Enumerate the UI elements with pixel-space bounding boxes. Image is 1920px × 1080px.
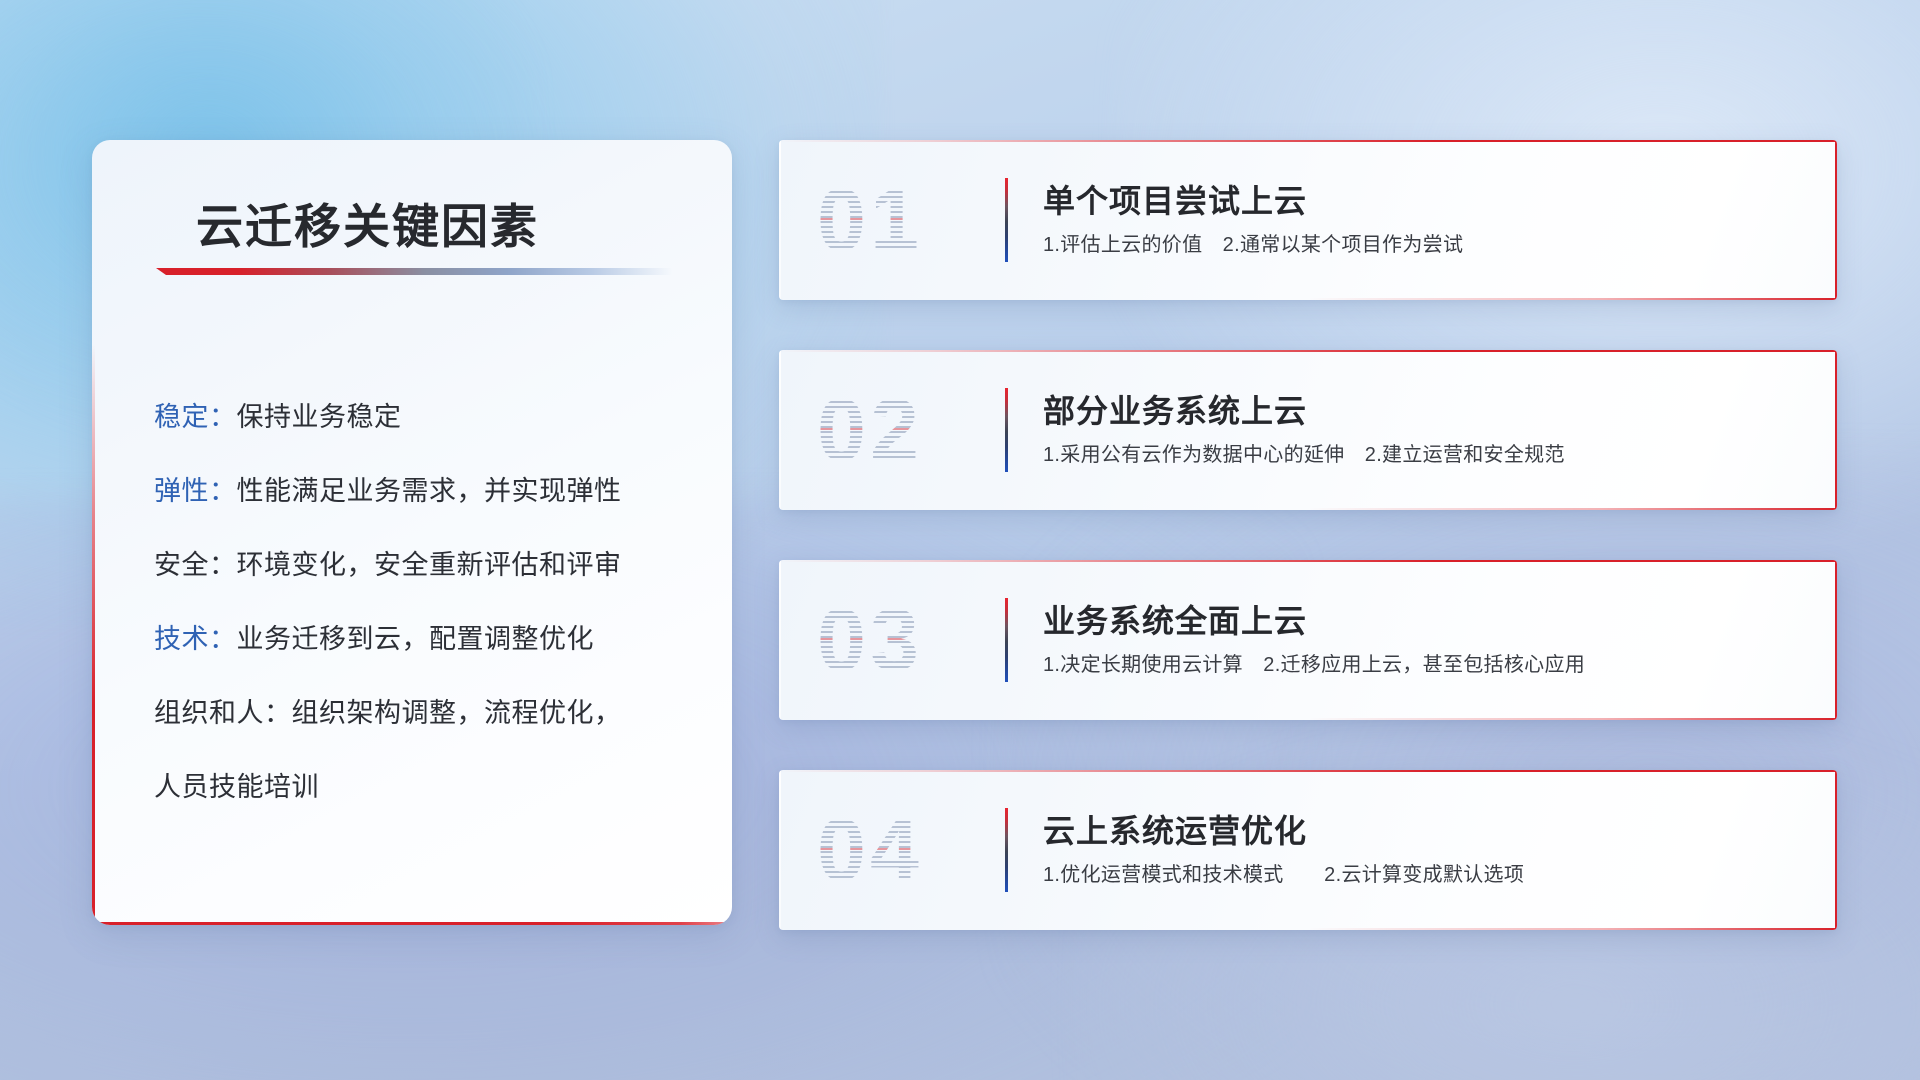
factor-row: 弹性：性能满足业务需求，并实现弹性 [154, 454, 698, 528]
stage-number: 02 [817, 366, 923, 494]
factor-row: 安全：环境变化，安全重新评估和评审 [154, 528, 698, 602]
factor-value: 业务迁移到云，配置调整优化 [237, 624, 595, 654]
factor-row: 人员技能培训 [154, 750, 698, 824]
card-top-accent [779, 770, 1837, 772]
factor-row: 组织和人：组织架构调整，流程优化， [154, 676, 698, 750]
factor-key: 稳定： [154, 402, 237, 432]
key-factors-panel: 云迁移关键因素 稳定：保持业务稳定 弹性：性能满足业务需求，并实现弹性 安全：环… [92, 140, 732, 925]
card-divider-bar [1005, 808, 1008, 892]
card-top-accent [779, 140, 1837, 142]
stage-description: 1.评估上云的价值 2.通常以某个项目作为尝试 [1043, 230, 1463, 260]
panel-title: 云迁移关键因素 [196, 188, 539, 257]
card-divider-bar [1005, 388, 1008, 472]
stage-number: 01 [817, 156, 923, 284]
card-left-edge [779, 770, 781, 930]
card-top-accent [779, 560, 1837, 562]
card-left-edge [779, 350, 781, 510]
stage-description: 1.优化运营模式和技术模式 2.云计算变成默认选项 [1043, 860, 1524, 890]
card-right-accent [1835, 350, 1837, 510]
stage-description: 1.采用公有云作为数据中心的延伸 2.建立运营和安全规范 [1043, 440, 1565, 470]
factor-value: 人员技能培训 [154, 772, 319, 802]
factor-key: 技术： [154, 624, 237, 654]
stage-description: 1.决定长期使用云计算 2.迁移应用上云，甚至包括核心应用 [1043, 650, 1585, 680]
title-underline-rule [156, 268, 672, 275]
card-bottom-accent [779, 298, 1837, 300]
card-bottom-accent [779, 508, 1837, 510]
stage-card[interactable]: 03 03 业务系统全面上云 1.决定长期使用云计算 2.迁移应用上云，甚至包括… [779, 560, 1837, 720]
factor-key: 组织和人： [154, 698, 292, 728]
card-right-accent [1835, 560, 1837, 720]
stage-card[interactable]: 02 02 部分业务系统上云 1.采用公有云作为数据中心的延伸 2.建立运营和安… [779, 350, 1837, 510]
factor-key: 弹性： [154, 476, 237, 506]
card-right-accent [1835, 770, 1837, 930]
slide-stage: 云迁移关键因素 稳定：保持业务稳定 弹性：性能满足业务需求，并实现弹性 安全：环… [0, 0, 1920, 1080]
factor-value: 组织架构调整，流程优化， [292, 698, 622, 728]
stage-number: 04 [817, 786, 923, 914]
factor-value: 性能满足业务需求，并实现弹性 [237, 476, 622, 506]
factor-row: 稳定：保持业务稳定 [154, 380, 698, 454]
factor-key: 安全： [154, 550, 237, 580]
factor-value: 保持业务稳定 [237, 402, 402, 432]
card-bottom-accent [779, 718, 1837, 720]
card-right-accent [1835, 140, 1837, 300]
stage-title: 云上系统运营优化 [1043, 806, 1307, 852]
stage-card[interactable]: 01 01 单个项目尝试上云 1.评估上云的价值 2.通常以某个项目作为尝试 [779, 140, 1837, 300]
factor-value: 环境变化，安全重新评估和评审 [237, 550, 622, 580]
stage-title: 单个项目尝试上云 [1043, 176, 1307, 222]
stage-number: 03 [817, 576, 923, 704]
card-bottom-accent [779, 928, 1837, 930]
card-left-edge [779, 560, 781, 720]
card-divider-bar [1005, 178, 1008, 262]
stage-title: 业务系统全面上云 [1043, 596, 1307, 642]
card-divider-bar [1005, 598, 1008, 682]
factor-row: 技术：业务迁移到云，配置调整优化 [154, 602, 698, 676]
card-top-accent [779, 350, 1837, 352]
stage-card[interactable]: 04 04 云上系统运营优化 1.优化运营模式和技术模式 2.云计算变成默认选项 [779, 770, 1837, 930]
factor-list: 稳定：保持业务稳定 弹性：性能满足业务需求，并实现弹性 安全：环境变化，安全重新… [154, 380, 698, 824]
stage-title: 部分业务系统上云 [1043, 386, 1307, 432]
card-left-edge [779, 140, 781, 300]
